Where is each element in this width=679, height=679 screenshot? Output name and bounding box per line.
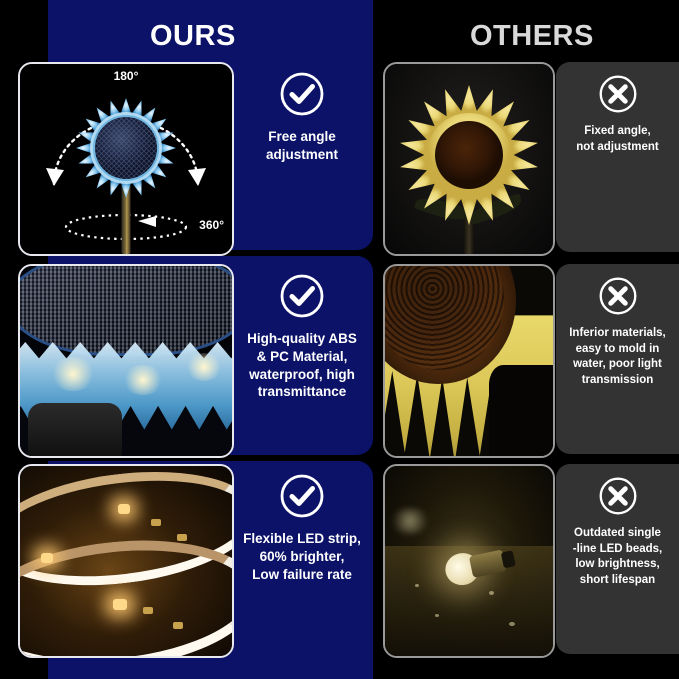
others-feature-3: Outdated single -line LED beads, low bri… bbox=[556, 464, 679, 654]
comparison-row-3: Flexible LED strip, 60% brighter, Low fa… bbox=[0, 464, 679, 656]
solder-pad bbox=[151, 519, 161, 526]
rotation-angle-label: 360° bbox=[199, 218, 224, 232]
check-circle-icon bbox=[280, 274, 324, 318]
blue-petal-solar-panel-closeup bbox=[20, 266, 232, 456]
cross-circle-icon bbox=[598, 74, 638, 114]
comparison-infographic: OURS OTHERS bbox=[0, 0, 679, 679]
single-line-led-bulb-on-wet-ground bbox=[385, 466, 553, 656]
comparison-row-1: 180° 360° Free angle adjustment bbox=[0, 62, 679, 252]
others-image-card-2 bbox=[383, 264, 555, 458]
ours-feature-2: High-quality ABS & PC Material, waterpro… bbox=[232, 264, 372, 454]
ours-caption-2: High-quality ABS & PC Material, waterpro… bbox=[247, 330, 357, 401]
macro-dark-corner bbox=[489, 365, 553, 456]
ours-header: OURS bbox=[150, 20, 236, 53]
others-header: OTHERS bbox=[470, 20, 594, 53]
ours-image-card-3 bbox=[18, 464, 234, 658]
check-circle-icon bbox=[280, 474, 324, 518]
check-circle-icon bbox=[280, 72, 324, 116]
cross-circle-icon bbox=[598, 276, 638, 316]
lit-led bbox=[118, 504, 130, 514]
solder-pad bbox=[177, 534, 187, 541]
blue-solar-sunflower-rotation-diagram: 180° 360° bbox=[20, 64, 232, 254]
water-droplet bbox=[509, 622, 515, 626]
others-caption-2: Inferior materials, easy to mold in wate… bbox=[569, 326, 666, 388]
comparison-row-2: High-quality ABS & PC Material, waterpro… bbox=[0, 264, 679, 456]
cross-circle-icon bbox=[598, 476, 638, 516]
water-droplet bbox=[415, 584, 419, 587]
yellow-sunflower-fixed-photo bbox=[385, 64, 553, 254]
solar-panel-surface bbox=[18, 264, 234, 356]
tilt-angle-label: 180° bbox=[114, 69, 139, 83]
blue-sunflower-head bbox=[74, 96, 178, 200]
ours-feature-1: Free angle adjustment bbox=[232, 62, 372, 252]
solder-pad bbox=[173, 622, 183, 629]
sunflower-macro-petals-photo bbox=[385, 266, 553, 456]
others-image-card-3 bbox=[383, 464, 555, 658]
sunflower-svg bbox=[394, 80, 544, 230]
solder-pad bbox=[143, 607, 153, 614]
ours-image-card-1: 180° 360° bbox=[18, 62, 234, 256]
ours-caption-3: Flexible LED strip, 60% brighter, Low fa… bbox=[243, 530, 361, 583]
ours-image-card-2 bbox=[18, 264, 234, 458]
lit-led bbox=[113, 599, 127, 610]
sunflower-head bbox=[394, 80, 544, 230]
others-caption-3: Outdated single -line LED beads, low bri… bbox=[573, 526, 662, 588]
ours-caption-1: Free angle adjustment bbox=[266, 128, 338, 164]
others-feature-1: Fixed angle, not adjustment bbox=[556, 62, 679, 252]
blue-flower-svg bbox=[74, 96, 178, 200]
others-feature-2: Inferior materials, easy to mold in wate… bbox=[556, 264, 679, 454]
others-image-card-1 bbox=[383, 62, 555, 256]
others-caption-1: Fixed angle, not adjustment bbox=[576, 124, 658, 155]
black-base-housing bbox=[28, 403, 121, 458]
led-glow bbox=[122, 365, 164, 395]
lit-led bbox=[41, 553, 53, 563]
led-glow bbox=[50, 357, 96, 391]
background-blurred-bulb bbox=[388, 508, 432, 534]
ours-feature-3: Flexible LED strip, 60% brighter, Low fa… bbox=[232, 464, 372, 654]
flexible-led-strip-coil bbox=[20, 466, 232, 656]
